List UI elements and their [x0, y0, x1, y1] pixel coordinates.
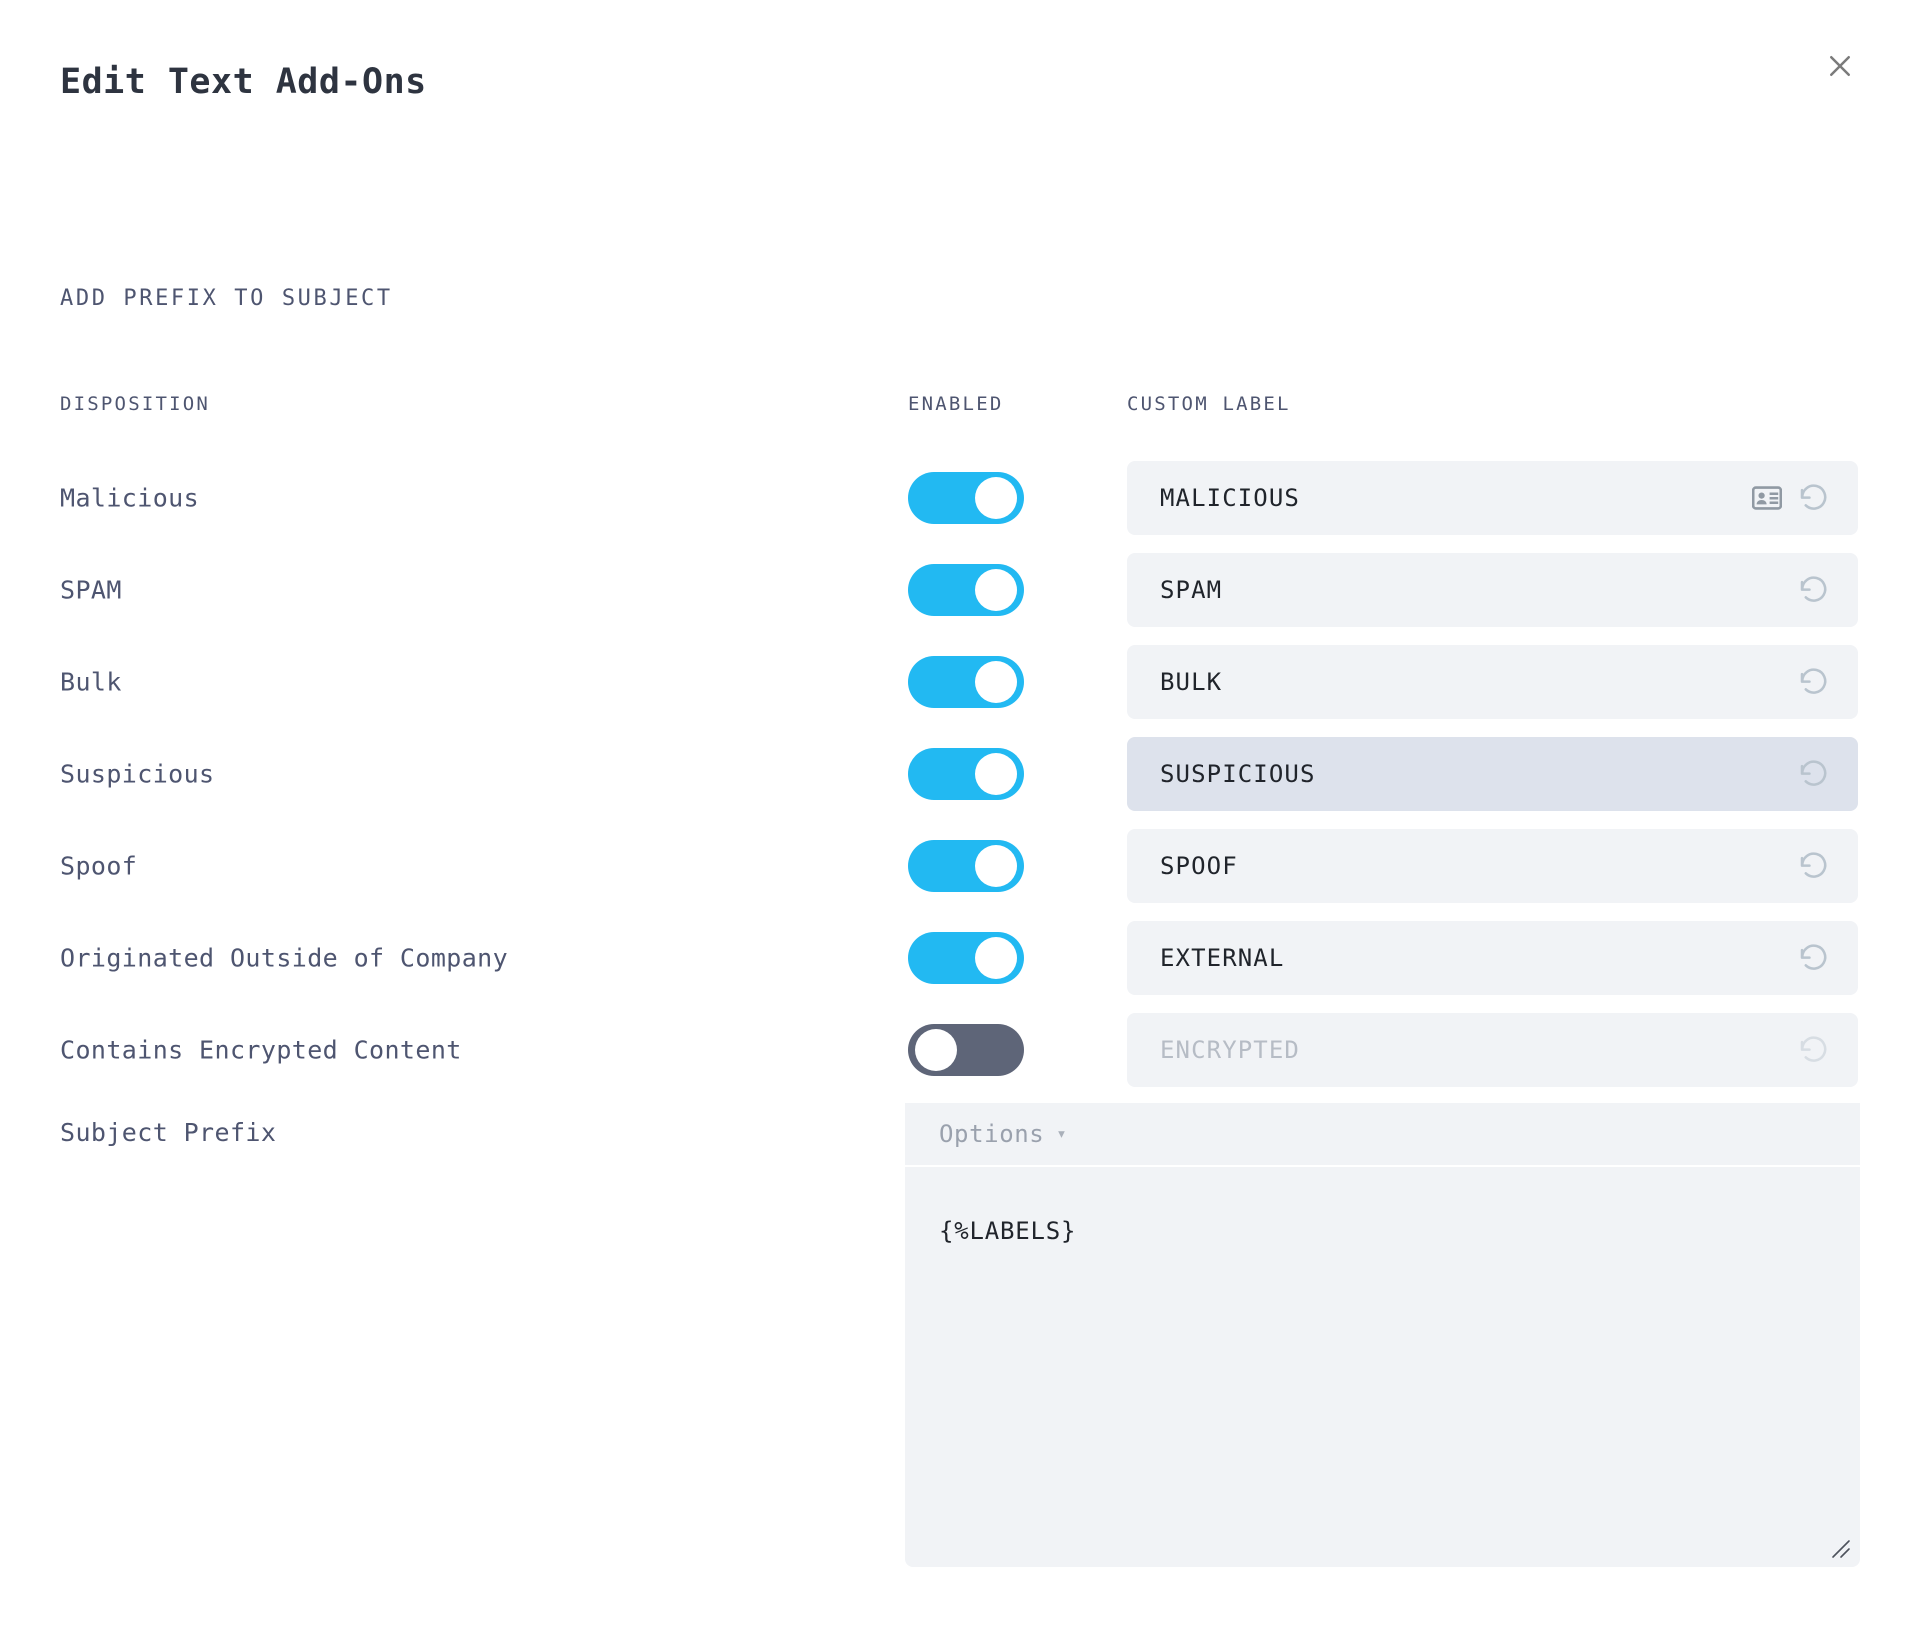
close-icon: [1825, 51, 1855, 81]
enabled-toggle[interactable]: [908, 472, 1024, 524]
reset-icon[interactable]: [1798, 758, 1830, 790]
chevron-down-icon: ▾: [1056, 1126, 1066, 1143]
table-row: SuspiciousSUSPICIOUS: [0, 728, 1908, 820]
table-row: MaliciousMALICIOUS: [0, 452, 1908, 544]
reset-icon[interactable]: [1798, 942, 1830, 974]
custom-label-actions: [1798, 666, 1830, 698]
table-row: SpoofSPOOF: [0, 820, 1908, 912]
disposition-label: SPAM: [60, 576, 122, 605]
page-title: Edit Text Add-Ons: [60, 62, 427, 102]
table-row: Originated Outside of CompanyEXTERNAL: [0, 912, 1908, 1004]
resize-handle-icon[interactable]: [1830, 1538, 1852, 1560]
toggle-knob: [975, 477, 1017, 519]
custom-label-input[interactable]: MALICIOUS: [1127, 461, 1858, 535]
enabled-toggle[interactable]: [908, 748, 1024, 800]
custom-label-actions: [1798, 942, 1830, 974]
reset-icon[interactable]: [1798, 850, 1830, 882]
custom-label-input[interactable]: ENCRYPTED: [1127, 1013, 1858, 1087]
edit-text-addons-dialog: Edit Text Add-Ons ADD PREFIX TO SUBJECT …: [0, 0, 1908, 1650]
column-header-enabled: ENABLED: [908, 393, 1003, 415]
toggle-knob: [915, 1029, 957, 1071]
reset-icon: [1798, 1034, 1830, 1066]
custom-label-input[interactable]: SPOOF: [1127, 829, 1858, 903]
custom-label-value: MALICIOUS: [1160, 484, 1752, 512]
disposition-label: Suspicious: [60, 760, 215, 789]
disposition-label: Contains Encrypted Content: [60, 1036, 462, 1065]
options-dropdown-label: Options: [939, 1120, 1044, 1148]
contact-card-icon[interactable]: [1752, 486, 1782, 510]
custom-label-value: SUSPICIOUS: [1160, 760, 1798, 788]
disposition-rows: MaliciousMALICIOUSSPAMSPAMBulkBULKSuspic…: [0, 452, 1908, 1096]
toggle-knob: [975, 661, 1017, 703]
custom-label-actions: [1798, 850, 1830, 882]
custom-label-actions: [1798, 1034, 1830, 1066]
subject-prefix-textarea-value: {%LABELS}: [939, 1217, 1076, 1245]
custom-label-input[interactable]: BULK: [1127, 645, 1858, 719]
table-row: BulkBULK: [0, 636, 1908, 728]
custom-label-actions: [1752, 482, 1830, 514]
custom-label-value: BULK: [1160, 668, 1798, 696]
custom-label-input[interactable]: SPAM: [1127, 553, 1858, 627]
custom-label-value: EXTERNAL: [1160, 944, 1798, 972]
toggle-knob: [975, 753, 1017, 795]
dialog-header: Edit Text Add-Ons: [0, 0, 1908, 140]
subject-prefix-label: Subject Prefix: [60, 1118, 276, 1147]
disposition-label: Originated Outside of Company: [60, 944, 508, 973]
enabled-toggle[interactable]: [908, 932, 1024, 984]
enabled-toggle[interactable]: [908, 1024, 1024, 1076]
custom-label-value: SPOOF: [1160, 852, 1798, 880]
subject-prefix-panel: Options ▾ {%LABELS}: [905, 1103, 1860, 1650]
table-row: SPAMSPAM: [0, 544, 1908, 636]
custom-label-input[interactable]: SUSPICIOUS: [1127, 737, 1858, 811]
disposition-label: Bulk: [60, 668, 122, 697]
disposition-label: Spoof: [60, 852, 137, 881]
options-dropdown[interactable]: Options ▾: [905, 1103, 1860, 1165]
reset-icon[interactable]: [1798, 574, 1830, 606]
custom-label-input[interactable]: EXTERNAL: [1127, 921, 1858, 995]
reset-icon[interactable]: [1798, 482, 1830, 514]
custom-label-actions: [1798, 758, 1830, 790]
toggle-knob: [975, 937, 1017, 979]
custom-label-value: ENCRYPTED: [1160, 1036, 1798, 1064]
section-label-add-prefix-to-subject: ADD PREFIX TO SUBJECT: [60, 286, 393, 311]
enabled-toggle[interactable]: [908, 564, 1024, 616]
disposition-label: Malicious: [60, 484, 199, 513]
column-header-custom-label: CUSTOM LABEL: [1127, 393, 1291, 415]
subject-prefix-textarea[interactable]: {%LABELS}: [905, 1167, 1860, 1567]
reset-icon[interactable]: [1798, 666, 1830, 698]
custom-label-actions: [1798, 574, 1830, 606]
toggle-knob: [975, 845, 1017, 887]
custom-label-value: SPAM: [1160, 576, 1798, 604]
enabled-toggle[interactable]: [908, 656, 1024, 708]
enabled-toggle[interactable]: [908, 840, 1024, 892]
column-header-disposition: DISPOSITION: [60, 393, 210, 415]
toggle-knob: [975, 569, 1017, 611]
close-button[interactable]: [1816, 42, 1864, 90]
table-row: Contains Encrypted ContentENCRYPTED: [0, 1004, 1908, 1096]
